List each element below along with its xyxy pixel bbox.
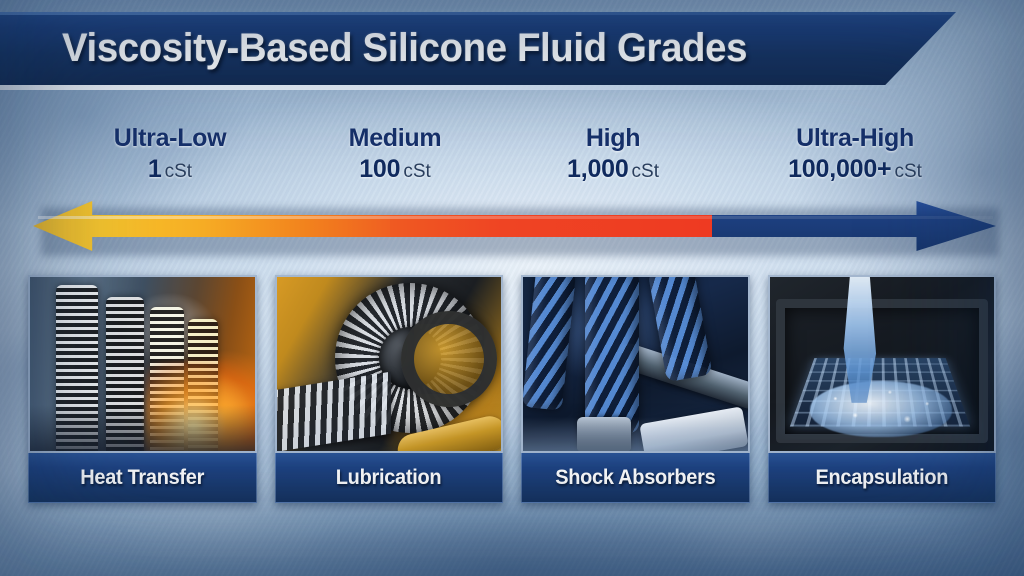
grade-unit-ultra-low: cSt bbox=[165, 161, 192, 182]
caption-bar-lubrication: Lubrication bbox=[275, 453, 504, 503]
viscosity-scale-labels: Ultra-Low 1cSt Medium 100cSt High 1,000c… bbox=[0, 124, 1024, 196]
caption-bar-encapsulation: Encapsulation bbox=[768, 453, 997, 503]
title-underline-divider bbox=[0, 85, 912, 90]
title-banner: Viscosity-Based Silicone Fluid Grades bbox=[0, 12, 956, 85]
machined-block-icon bbox=[275, 372, 391, 453]
caption-label-heat-transfer: Heat Transfer bbox=[80, 466, 204, 490]
viscosity-gradient-arrow bbox=[0, 196, 1024, 268]
page-title: Viscosity-Based Silicone Fluid Grades bbox=[62, 26, 747, 71]
grade-value-medium: 100cSt bbox=[349, 154, 442, 188]
grade-number-high: 1,000 bbox=[567, 155, 629, 183]
grade-name-medium: Medium bbox=[349, 124, 442, 153]
grade-value-ultra-low: 1cSt bbox=[114, 154, 227, 188]
application-card-heat-transfer: Heat Transfer bbox=[28, 275, 257, 503]
caption-label-lubrication: Lubrication bbox=[336, 466, 441, 490]
fluid-pour-image bbox=[770, 277, 995, 451]
grade-unit-medium: cSt bbox=[403, 161, 430, 182]
fluid-droplets-icon bbox=[818, 373, 942, 437]
caption-label-shock-absorbers: Shock Absorbers bbox=[555, 466, 715, 490]
gears-image bbox=[277, 277, 502, 451]
lubrication-photo bbox=[275, 275, 504, 453]
photo-floor-shadow bbox=[30, 405, 255, 451]
grade-unit-ultra-high: cSt bbox=[894, 161, 921, 182]
grade-unit-high: cSt bbox=[632, 161, 659, 182]
scale-label-ultra-low: Ultra-Low 1cSt bbox=[114, 124, 227, 188]
scale-label-ultra-high: Ultra-High 100,000+cSt bbox=[788, 124, 922, 188]
grade-name-high: High bbox=[567, 124, 659, 153]
shock-absorbers-photo bbox=[521, 275, 750, 453]
scale-label-medium: Medium 100cSt bbox=[349, 124, 442, 188]
application-card-encapsulation: Encapsulation bbox=[768, 275, 997, 503]
coil-springs-image bbox=[523, 277, 748, 451]
finned-columns-image bbox=[30, 277, 255, 451]
grade-value-high: 1,000cSt bbox=[567, 154, 659, 188]
coil-spring-icon bbox=[585, 275, 639, 433]
caption-bar-heat-transfer: Heat Transfer bbox=[28, 453, 257, 503]
scale-label-high: High 1,000cSt bbox=[567, 124, 659, 188]
grade-value-ultra-high: 100,000+cSt bbox=[788, 154, 922, 188]
heat-transfer-photo bbox=[28, 275, 257, 453]
grade-number-medium: 100 bbox=[359, 155, 400, 183]
grade-name-ultra-low: Ultra-Low bbox=[114, 124, 227, 153]
grade-number-ultra-low: 1 bbox=[148, 155, 162, 183]
gear-ring-icon bbox=[401, 311, 497, 407]
arrow-middle-bar bbox=[390, 215, 712, 237]
coil-spring-icon bbox=[522, 275, 576, 411]
application-cards: Heat Transfer Lubrication bbox=[28, 275, 996, 503]
infographic-canvas: Viscosity-Based Silicone Fluid Grades Ul… bbox=[0, 0, 1024, 576]
application-card-shock-absorbers: Shock Absorbers bbox=[521, 275, 750, 503]
application-card-lubrication: Lubrication bbox=[275, 275, 504, 503]
caption-label-encapsulation: Encapsulation bbox=[815, 466, 948, 490]
photo-floor-shadow bbox=[523, 417, 748, 451]
grade-name-ultra-high: Ultra-High bbox=[788, 124, 922, 153]
grade-number-ultra-high: 100,000+ bbox=[788, 155, 891, 183]
caption-bar-shock-absorbers: Shock Absorbers bbox=[521, 453, 750, 503]
encapsulation-photo bbox=[768, 275, 997, 453]
